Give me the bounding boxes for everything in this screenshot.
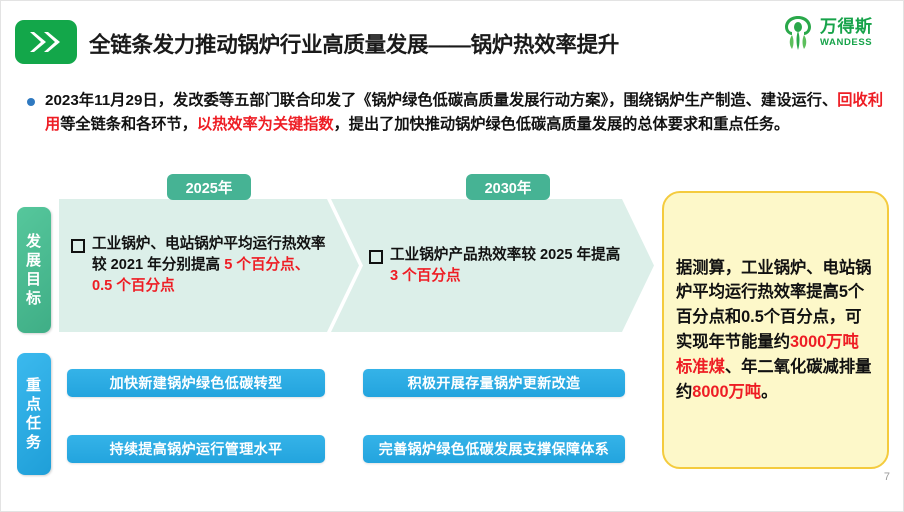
rail-char: 点 bbox=[26, 395, 42, 414]
brand-name-cn: 万得斯 bbox=[820, 18, 873, 35]
slide-header: 全链条发力推动锅炉行业高质量发展——锅炉热效率提升 万得斯 WANDESS bbox=[1, 1, 904, 79]
goal-text: 工业锅炉产品热效率较 2025 年提高 3 个百分点 bbox=[390, 245, 624, 286]
goal-item-2030: 工业锅炉产品热效率较 2025 年提高 3 个百分点 bbox=[369, 199, 624, 332]
rail-char: 展 bbox=[26, 251, 42, 270]
task-box-3[interactable]: 持续提高锅炉运行管理水平 bbox=[67, 435, 325, 463]
slide-canvas: 全链条发力推动锅炉行业高质量发展——锅炉热效率提升 万得斯 WANDESS 20… bbox=[0, 0, 904, 512]
intro-text: 2023年11月29日，发改委等五部门联合印发了《锅炉绿色低碳高质量发展行动方案… bbox=[45, 89, 883, 136]
brand-name-en: WANDESS bbox=[820, 38, 873, 48]
page-title: 全链条发力推动锅炉行业高质量发展——锅炉热效率提升 bbox=[89, 28, 619, 59]
wandess-leaf-logo-icon bbox=[781, 14, 815, 52]
year-pill-2030: 2030年 bbox=[466, 174, 550, 200]
double-chevron-right-icon bbox=[15, 20, 77, 64]
task-box-2[interactable]: 积极开展存量锅炉更新改造 bbox=[363, 369, 625, 397]
rail-char: 务 bbox=[26, 433, 42, 452]
square-bullet-icon bbox=[369, 250, 383, 264]
goal-text: 工业锅炉、电站锅炉平均运行热效率较 2021 年分别提高 5 个百分点、0.5 … bbox=[92, 234, 329, 296]
timeline-arrow-band: 工业锅炉、电站锅炉平均运行热效率较 2021 年分别提高 5 个百分点、0.5 … bbox=[59, 199, 654, 332]
brand-logo: 万得斯 WANDESS bbox=[781, 10, 893, 56]
rail-key-tasks: 重 点 任 务 bbox=[17, 353, 51, 475]
brand-text: 万得斯 WANDESS bbox=[820, 18, 873, 48]
callout-text: 据测算，工业锅炉、电站锅炉平均运行热效率提高5个百分点和0.5个百分点，可实现年… bbox=[676, 256, 875, 405]
rail-char: 重 bbox=[26, 376, 42, 395]
rail-char: 标 bbox=[26, 289, 42, 308]
intro-paragraph: 2023年11月29日，发改委等五部门联合印发了《锅炉绿色低碳高质量发展行动方案… bbox=[27, 89, 883, 136]
goal-item-2025: 工业锅炉、电站锅炉平均运行热效率较 2021 年分别提高 5 个百分点、0.5 … bbox=[71, 199, 329, 332]
year-pill-2025: 2025年 bbox=[167, 174, 251, 200]
rail-char: 目 bbox=[26, 270, 42, 289]
rail-char: 任 bbox=[26, 414, 42, 433]
square-bullet-icon bbox=[71, 239, 85, 253]
rail-char: 发 bbox=[26, 232, 42, 251]
bullet-dot-icon bbox=[27, 98, 35, 106]
estimate-callout-box: 据测算，工业锅炉、电站锅炉平均运行热效率提高5个百分点和0.5个百分点，可实现年… bbox=[662, 191, 889, 469]
task-box-4[interactable]: 完善锅炉绿色低碳发展支撑保障体系 bbox=[363, 435, 625, 463]
rail-development-goals: 发 展 目 标 bbox=[17, 207, 51, 333]
page-number: 7 bbox=[884, 471, 890, 483]
task-box-1[interactable]: 加快新建锅炉绿色低碳转型 bbox=[67, 369, 325, 397]
